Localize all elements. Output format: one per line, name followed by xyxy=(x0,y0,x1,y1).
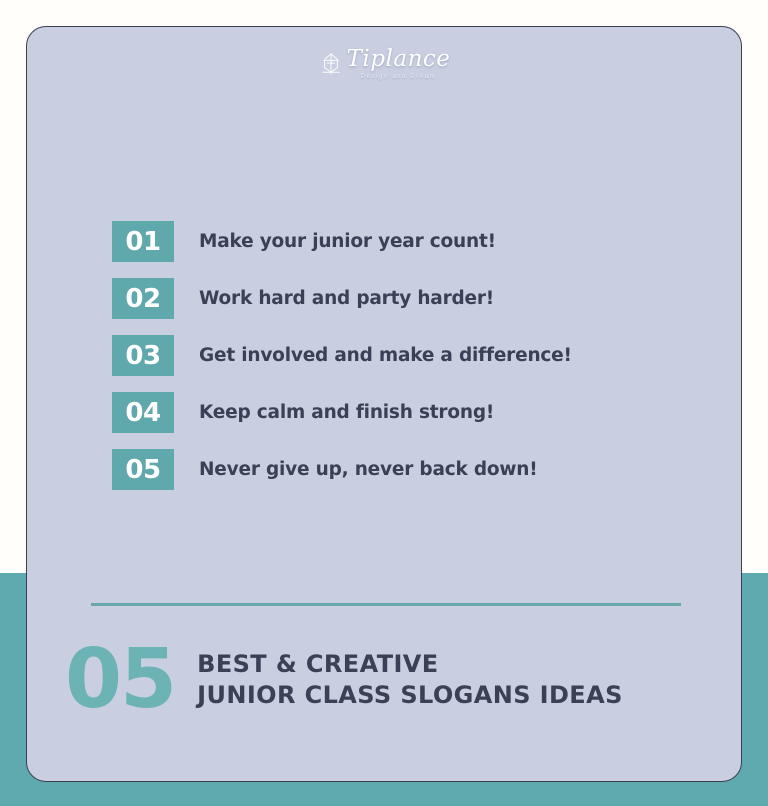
brand-logo: Tiplance Design and Dream xyxy=(27,41,742,87)
slogan-text: Get involved and make a difference! xyxy=(199,345,572,366)
poster-root: Tiplance Design and Dream 01 Make your j… xyxy=(0,0,768,806)
footer-block: 05 BEST & CREATIVE JUNIOR CLASS SLOGANS … xyxy=(65,642,725,717)
footer-title-line-1: BEST & CREATIVE xyxy=(197,649,623,680)
list-item: 02 Work hard and party harder! xyxy=(112,270,712,327)
footer-count: 05 xyxy=(65,642,175,717)
list-item: 05 Never give up, never back down! xyxy=(112,441,712,498)
footer-title-line-2: JUNIOR CLASS SLOGANS IDEAS xyxy=(197,680,623,711)
slogan-text: Never give up, never back down! xyxy=(199,459,538,480)
list-item: 01 Make your junior year count! xyxy=(112,213,712,270)
list-item: 04 Keep calm and finish strong! xyxy=(112,384,712,441)
slogan-text: Make your junior year count! xyxy=(199,231,496,252)
slogan-text: Keep calm and finish strong! xyxy=(199,402,494,423)
slogan-list: 01 Make your junior year count! 02 Work … xyxy=(112,213,712,498)
ornament-emblem-icon xyxy=(320,52,342,76)
list-item: 03 Get involved and make a difference! xyxy=(112,327,712,384)
logo-text-block: Tiplance Design and Dream xyxy=(347,48,451,80)
slogan-text: Work hard and party harder! xyxy=(199,288,494,309)
slogan-number-badge: 04 xyxy=(112,392,174,433)
slogan-number-badge: 05 xyxy=(112,449,174,490)
slogan-number-badge: 02 xyxy=(112,278,174,319)
slogan-number-badge: 01 xyxy=(112,221,174,262)
footer-title-group: BEST & CREATIVE JUNIOR CLASS SLOGANS IDE… xyxy=(197,649,623,710)
logo-name: Tiplance xyxy=(347,48,451,71)
logo-tagline: Design and Dream xyxy=(361,74,437,80)
section-divider xyxy=(91,603,681,606)
content-card: Tiplance Design and Dream 01 Make your j… xyxy=(26,26,742,782)
slogan-number-badge: 03 xyxy=(112,335,174,376)
